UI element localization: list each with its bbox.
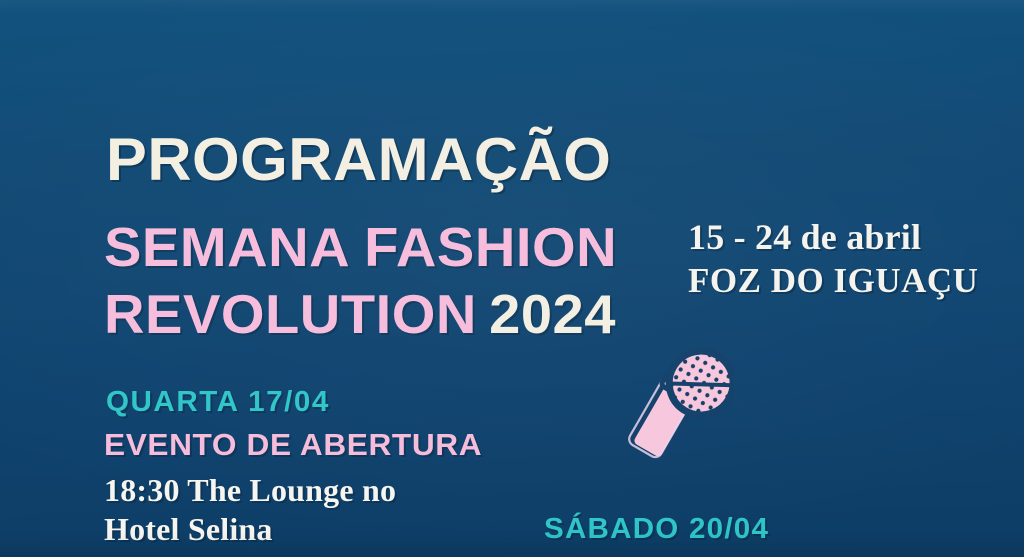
schedule-venue-line-1: 18:30 The Lounge no	[104, 474, 396, 506]
event-schedule-poster: PROGRAMAÇÃO SEMANA FASHION REVOLUTION202…	[0, 0, 1024, 557]
headline-revolution-year: REVOLUTION2024	[104, 287, 616, 342]
page-title: PROGRAMAÇÃO	[106, 130, 611, 190]
headline-revolution-word: REVOLUTION	[104, 283, 477, 345]
schedule-next-day-label: SÁBADO 20/04	[544, 515, 769, 544]
microphone-icon	[614, 330, 734, 475]
headline-year: 2024	[489, 283, 616, 345]
event-city: FOZ DO IGUAÇU	[688, 263, 978, 298]
headline-semana-fashion: SEMANA FASHION	[104, 220, 617, 275]
schedule-venue-line-2: Hotel Selina	[104, 513, 273, 545]
event-date-range: 15 - 24 de abril	[688, 219, 921, 255]
schedule-day-label: QUARTA 17/04	[106, 388, 330, 417]
schedule-event-title: EVENTO DE ABERTURA	[104, 429, 482, 460]
